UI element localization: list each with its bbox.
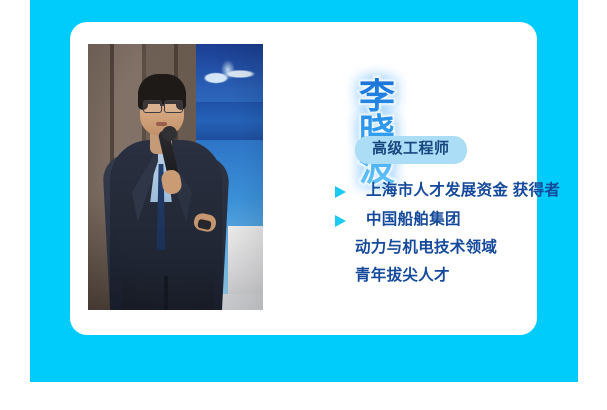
list-item: 动力与机电技术领域 bbox=[335, 239, 540, 258]
list-item: 上海市人才发展资金 获得者 bbox=[335, 182, 540, 201]
poster-canvas: 李晓波 李晓波 高级工程师 上海市人才发展资金 获得者 中国船舶集团 动力与机电… bbox=[0, 0, 607, 410]
job-title-badge: 高级工程师 bbox=[355, 136, 467, 164]
list-item: 青年拔尖人才 bbox=[335, 267, 540, 286]
list-item-label: 中国船舶集团 bbox=[366, 211, 461, 230]
photo-vignette bbox=[88, 44, 263, 310]
triangle-bullet-icon bbox=[335, 186, 359, 198]
speaker-photo bbox=[88, 44, 263, 310]
triangle-bullet-icon bbox=[335, 215, 359, 227]
profile-content: 李晓波 李晓波 高级工程师 上海市人才发展资金 获得者 中国船舶集团 动力与机电… bbox=[275, 32, 537, 332]
profile-card: 李晓波 李晓波 高级工程师 上海市人才发展资金 获得者 中国船舶集团 动力与机电… bbox=[70, 22, 537, 335]
list-item-label: 青年拔尖人才 bbox=[355, 267, 450, 286]
list-item: 中国船舶集团 bbox=[335, 211, 540, 230]
list-item-label: 动力与机电技术领域 bbox=[355, 239, 497, 258]
list-item-label: 上海市人才发展资金 获得者 bbox=[366, 182, 560, 201]
achievements-list: 上海市人才发展资金 获得者 中国船舶集团 动力与机电技术领域 青年拔尖人才 bbox=[335, 182, 540, 294]
speaker-name: 李晓波 bbox=[359, 78, 396, 186]
